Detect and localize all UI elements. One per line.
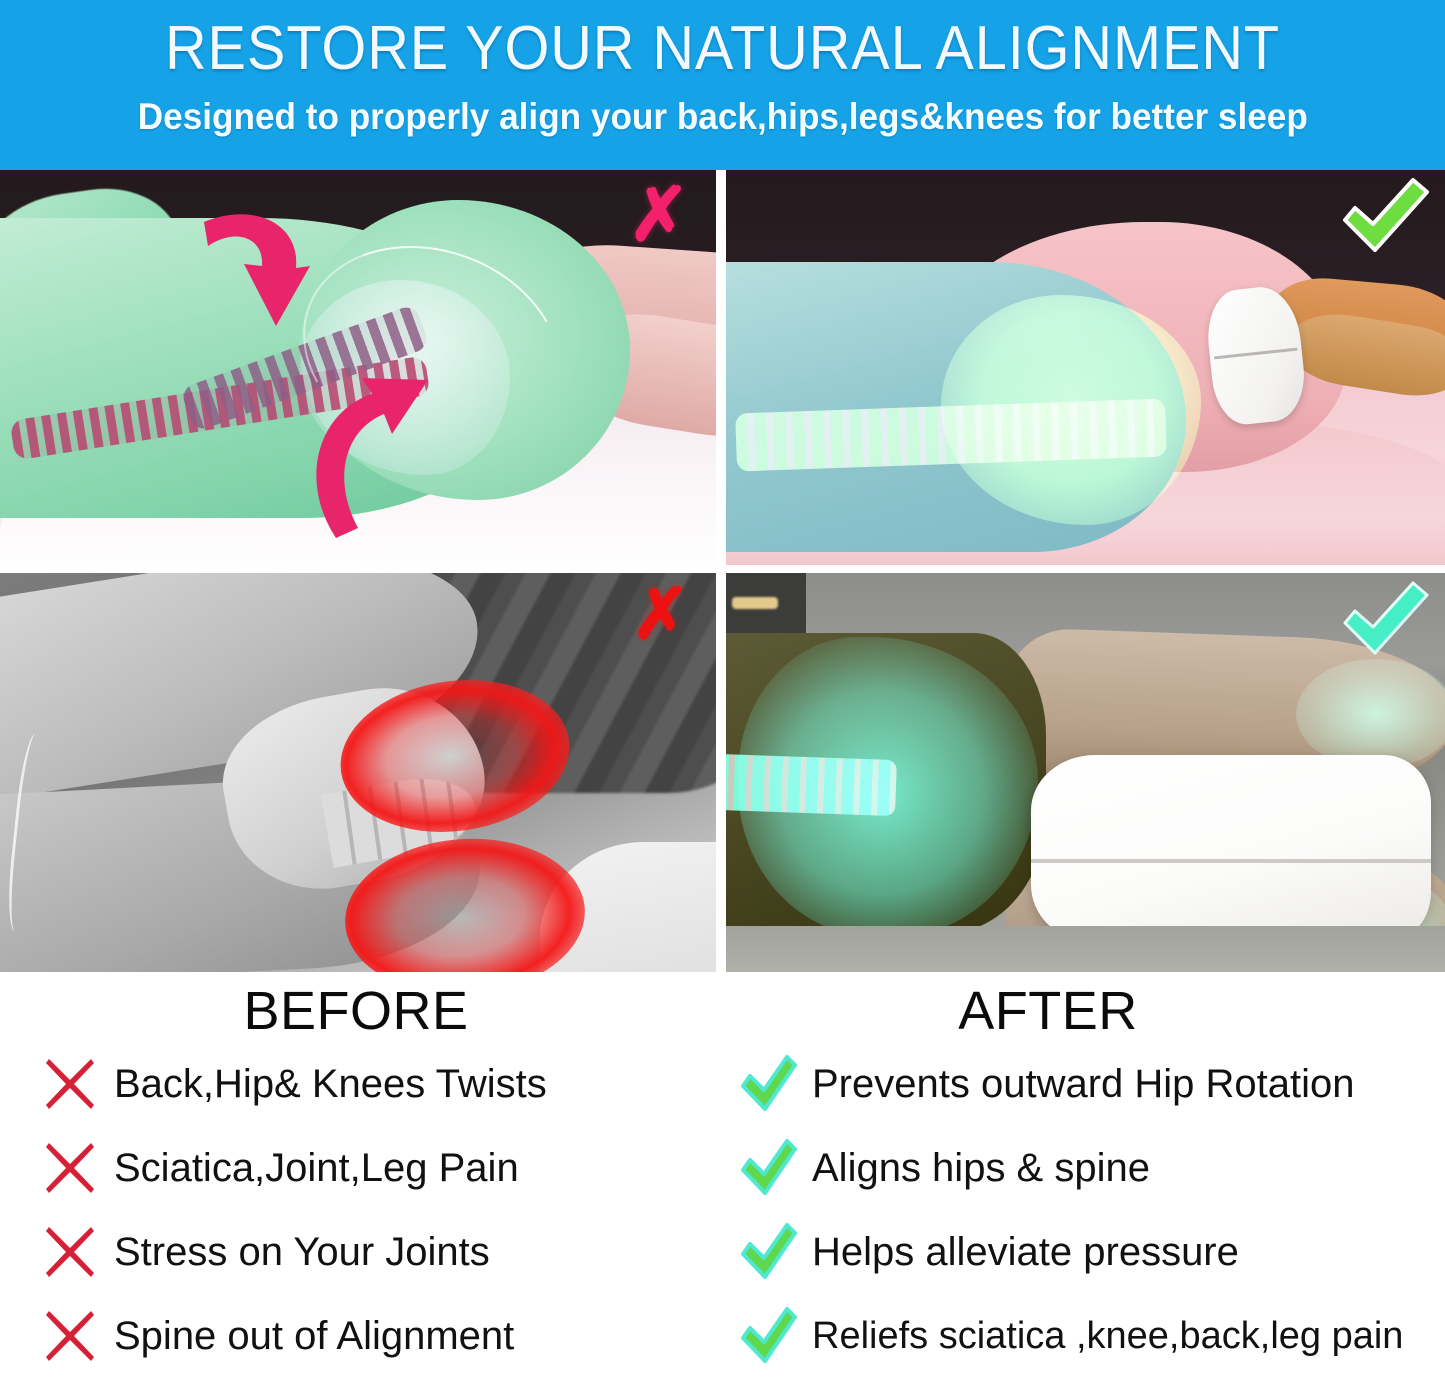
scene-illustration [726,170,1445,565]
check-mark-icon [1339,579,1431,659]
panel-before-knee-pain: ✗ [0,573,716,972]
list-item-label: Back,Hip& Knees Twists [114,1061,547,1107]
rotation-arrow-down-icon [192,208,312,333]
panel-after-knee-pillow [726,573,1445,972]
list-item-label: Reliefs sciatica ,knee,back,leg pain [812,1313,1403,1359]
before-bullet-list: Back,Hip& Knees Twists Sciatica,Joint,Le… [0,1042,722,1378]
list-item-label: Helps alleviate pressure [812,1229,1239,1275]
scene-illustration [0,170,716,565]
list-item: Helps alleviate pressure [722,1210,1444,1294]
list-item-label: Stress on Your Joints [114,1229,490,1275]
list-item-label: Prevents outward Hip Rotation [812,1061,1355,1107]
list-item-label: Sciatica,Joint,Leg Pain [114,1145,519,1191]
after-title: AFTER [722,980,1444,1042]
panel-after-aligned-spine [726,170,1445,565]
x-mark-icon: ✗ [628,178,690,252]
comparison-image-grid: ✗ [0,170,1445,972]
check-mark-icon [740,1222,798,1282]
knee-joint-highlight-upper [1296,659,1445,769]
product-infographic: RESTORE YOUR NATURAL ALIGNMENT Designed … [0,0,1445,1394]
x-mark-icon [44,1224,96,1280]
list-item-label: Aligns hips & spine [812,1145,1150,1191]
x-mark-icon: ✗ [631,579,690,649]
list-item-label: Spine out of Alignment [114,1313,514,1359]
list-item: Sciatica,Joint,Leg Pain [0,1126,722,1210]
list-item: Aligns hips & spine [722,1126,1444,1210]
rotation-arrow-up-icon [300,360,430,540]
before-title: BEFORE [0,980,722,1042]
knee-pillow-product [1031,755,1431,940]
page-title: RESTORE YOUR NATURAL ALIGNMENT [165,14,1280,84]
check-mark-icon [1339,176,1431,256]
panel-before-spine-twist: ✗ [0,170,716,565]
lamp-light [732,597,778,609]
list-item: Reliefs sciatica ,knee,back,leg pain [722,1294,1444,1378]
scene-illustration [726,573,1445,972]
after-column: AFTER Prevents outward Hip Rotation Alig… [722,972,1444,1394]
x-mark-icon [44,1140,96,1196]
after-bullet-list: Prevents outward Hip Rotation Aligns hip… [722,1042,1444,1378]
before-column: BEFORE Back,Hip& Knees Twists Sciatica,J… [0,972,722,1394]
list-item: Spine out of Alignment [0,1294,722,1378]
list-item: Stress on Your Joints [0,1210,722,1294]
x-mark-icon [44,1308,96,1364]
list-item: Back,Hip& Knees Twists [0,1042,722,1126]
x-mark-icon [44,1056,96,1112]
comparison-lists: BEFORE Back,Hip& Knees Twists Sciatica,J… [0,972,1445,1394]
floor-strip [726,926,1445,972]
header-banner: RESTORE YOUR NATURAL ALIGNMENT Designed … [0,0,1445,170]
check-mark-icon [740,1306,798,1366]
spine-highlight [726,754,897,816]
check-mark-icon [740,1138,798,1198]
page-subtitle: Designed to properly align your back,hip… [137,94,1307,140]
list-item: Prevents outward Hip Rotation [722,1042,1444,1126]
check-mark-icon [740,1054,798,1114]
scene-illustration [0,573,716,972]
